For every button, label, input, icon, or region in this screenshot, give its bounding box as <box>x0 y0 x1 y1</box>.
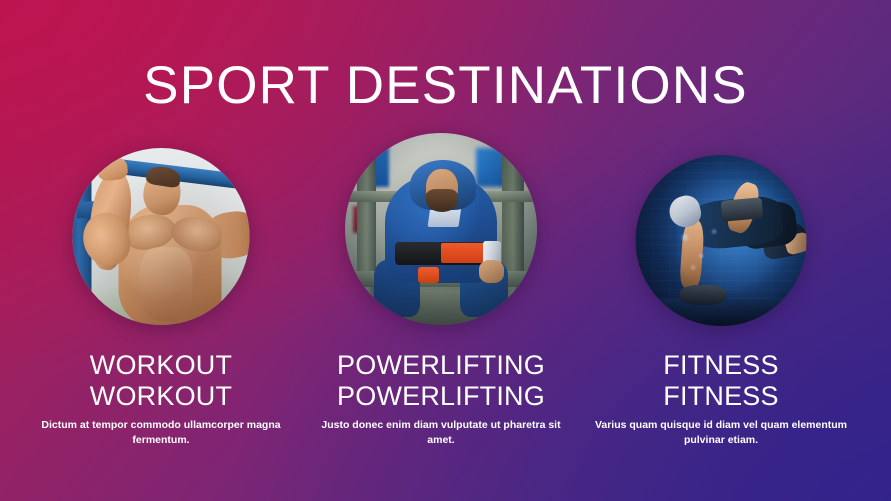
powerlifter-photo-wrap <box>345 133 537 325</box>
destination-card-powerlifting[interactable]: POWERLIFTING POWERLIFTING Justo donec en… <box>301 130 581 470</box>
card-description-fitness: Varius quam quisque id diam vel quam ele… <box>593 418 849 448</box>
card-description-workout: Dictum at tempor commodo ullamcorper mag… <box>33 418 289 448</box>
page-title: SPORT DESTINATIONS <box>0 58 891 114</box>
photo-vignette <box>345 133 537 325</box>
pull-up-athlete-photo-wrap <box>73 148 250 325</box>
powerlifter-photo <box>345 133 537 325</box>
destination-card-row: WORKOUT WORKOUT Dictum at tempor commodo… <box>0 130 891 470</box>
photo-shading <box>73 148 250 325</box>
card-heading-workout: WORKOUT WORKOUT <box>21 350 301 412</box>
dumbbell-plank-photo-wrap <box>636 155 807 326</box>
card-description-powerlifting: Justo donec enim diam vulputate ut phare… <box>313 418 569 448</box>
card-heading-powerlifting: POWERLIFTING POWERLIFTING <box>301 350 581 412</box>
dumbbell-plank-photo <box>636 155 807 326</box>
pull-up-athlete-photo <box>73 148 250 325</box>
destination-card-workout[interactable]: WORKOUT WORKOUT Dictum at tempor commodo… <box>21 130 301 470</box>
card-heading-fitness: FITNESS FITNESS <box>581 350 861 412</box>
photo-vignette <box>636 155 807 326</box>
destination-card-fitness[interactable]: FITNESS FITNESS Varius quam quisque id d… <box>581 130 861 470</box>
presentation-slide: SPORT DESTINATIONS <box>0 0 891 501</box>
